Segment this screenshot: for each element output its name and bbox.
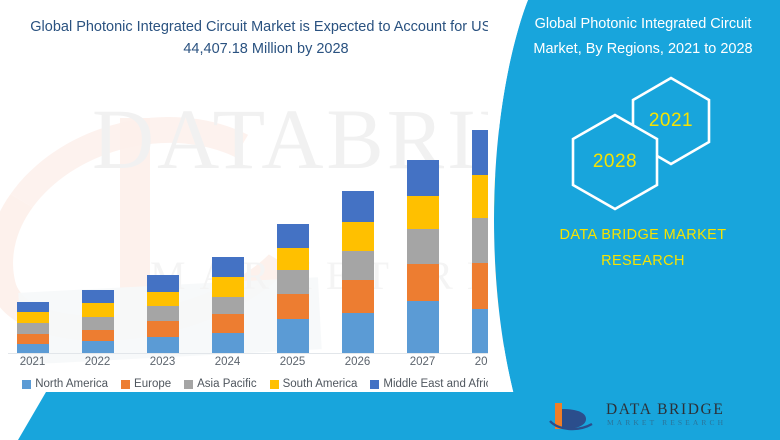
stacked-bar-2023[interactable] — [147, 275, 179, 353]
bar-segment[interactable] — [277, 294, 309, 319]
bar-segment[interactable] — [147, 292, 179, 307]
bar-group — [0, 100, 520, 353]
stacked-bar-2022[interactable] — [82, 290, 114, 353]
bar-segment[interactable] — [82, 330, 114, 342]
legend-label: North America — [35, 378, 108, 390]
logo-tagline: MARKET RESEARCH — [607, 418, 726, 427]
x-axis-label-2027: 2027 — [390, 356, 455, 368]
bar-slot — [325, 100, 390, 353]
bar-slot — [65, 100, 130, 353]
x-axis-label-2026: 2026 — [325, 356, 390, 368]
bar-segment[interactable] — [17, 334, 49, 345]
bar-segment[interactable] — [212, 297, 244, 315]
legend-swatch-icon — [184, 380, 193, 389]
legend-swatch-icon — [270, 380, 279, 389]
legend-swatch-icon — [121, 380, 130, 389]
bar-slot — [130, 100, 195, 353]
legend-label: Europe — [134, 378, 171, 390]
bar-segment[interactable] — [147, 321, 179, 338]
bar-segment[interactable] — [277, 319, 309, 353]
stacked-bar-2027[interactable] — [407, 160, 439, 353]
x-axis-label-2021: 2021 — [0, 356, 65, 368]
bar-slot — [0, 100, 65, 353]
bar-segment[interactable] — [212, 333, 244, 353]
bar-segment[interactable] — [407, 229, 439, 264]
bar-segment[interactable] — [277, 270, 309, 293]
legend-label: Asia Pacific — [197, 378, 256, 390]
logo-name: DATA BRIDGE — [606, 402, 724, 418]
legend-label: Middle East and Africa — [383, 378, 497, 390]
hexagon-2028: 2028 — [568, 112, 662, 212]
bar-slot — [195, 100, 260, 353]
legend-item[interactable]: Europe — [121, 378, 171, 390]
bar-slot — [260, 100, 325, 353]
bar-segment[interactable] — [82, 341, 114, 353]
stacked-bar-2026[interactable] — [342, 191, 374, 353]
bar-segment[interactable] — [277, 224, 309, 248]
legend-item[interactable]: South America — [270, 378, 358, 390]
chart-legend: North AmericaEuropeAsia PacificSouth Ame… — [0, 378, 520, 390]
bar-segment[interactable] — [82, 290, 114, 304]
side-panel-brand-line2: RESEARCH — [514, 248, 772, 274]
infographic-canvas: DATABRIDGE MARKET RESEARCH Global Photon… — [0, 0, 780, 440]
legend-label: South America — [283, 378, 358, 390]
x-axis-label-2025: 2025 — [260, 356, 325, 368]
bar-segment[interactable] — [407, 264, 439, 301]
logo-mark-icon — [548, 399, 604, 433]
side-panel-brand-line1: DATA BRIDGE MARKET — [514, 222, 772, 248]
bar-segment[interactable] — [342, 313, 374, 353]
bar-segment[interactable] — [147, 306, 179, 321]
bar-segment[interactable] — [407, 301, 439, 353]
x-axis-label-2023: 2023 — [130, 356, 195, 368]
footer-bar: DATA BRIDGE MARKET RESEARCH — [0, 392, 780, 440]
legend-item[interactable]: Asia Pacific — [184, 378, 256, 390]
legend-item[interactable]: North America — [22, 378, 108, 390]
bar-segment[interactable] — [147, 337, 179, 353]
bar-segment[interactable] — [342, 280, 374, 313]
bar-segment[interactable] — [212, 277, 244, 296]
bar-segment[interactable] — [17, 344, 49, 353]
bar-segment[interactable] — [17, 302, 49, 313]
page-title: Global Photonic Integrated Circuit Marke… — [12, 16, 520, 60]
side-panel-title: Global Photonic Integrated Circuit Marke… — [512, 12, 774, 62]
legend-swatch-icon — [22, 380, 31, 389]
legend-item[interactable]: Middle East and Africa — [370, 378, 497, 390]
bar-segment[interactable] — [342, 251, 374, 280]
chart-plot-area — [0, 100, 520, 354]
bar-segment[interactable] — [147, 275, 179, 292]
bar-segment[interactable] — [407, 160, 439, 196]
x-axis-label-2022: 2022 — [65, 356, 130, 368]
stacked-bar-2025[interactable] — [277, 224, 309, 353]
stacked-bar-2024[interactable] — [212, 257, 244, 353]
bar-segment[interactable] — [407, 196, 439, 229]
bar-segment[interactable] — [17, 312, 49, 323]
bar-segment[interactable] — [212, 257, 244, 277]
bar-segment[interactable] — [82, 317, 114, 330]
stacked-bar-2021[interactable] — [17, 302, 49, 354]
bar-segment[interactable] — [17, 323, 49, 334]
bar-segment[interactable] — [342, 191, 374, 222]
x-axis-labels: 20212022202320242025202620272028 — [0, 356, 520, 368]
bar-segment[interactable] — [82, 303, 114, 317]
bar-segment[interactable] — [342, 222, 374, 251]
brand-logo: DATA BRIDGE MARKET RESEARCH — [548, 399, 738, 433]
bar-segment[interactable] — [212, 314, 244, 332]
side-panel: Global Photonic Integrated Circuit Marke… — [488, 0, 780, 440]
legend-swatch-icon — [370, 380, 379, 389]
side-panel-brand: DATA BRIDGE MARKET RESEARCH — [514, 222, 772, 274]
bar-segment[interactable] — [277, 248, 309, 270]
x-axis-label-2024: 2024 — [195, 356, 260, 368]
x-axis-line — [8, 353, 512, 354]
bar-slot — [390, 100, 455, 353]
hexagon-2028-label: 2028 — [593, 151, 637, 173]
